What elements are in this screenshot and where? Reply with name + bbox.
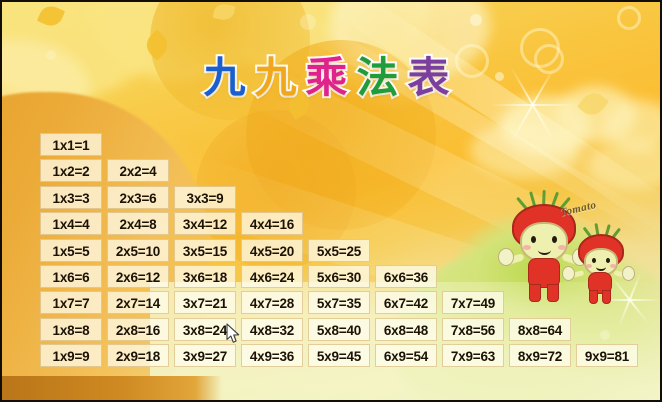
table-cell: 7x7=49	[442, 291, 504, 314]
bokeh-circle	[300, 14, 316, 30]
table-cell: 2x3=6	[107, 186, 169, 209]
cheek-blush	[558, 245, 566, 250]
hand	[562, 266, 575, 281]
page-title: 九九乘法表	[0, 44, 662, 105]
table-cell: 4x4=16	[241, 212, 303, 235]
leg	[602, 290, 611, 304]
table-cell: 4x6=24	[241, 265, 303, 288]
table-cell: 4x7=28	[241, 291, 303, 314]
table-cell: 3x6=18	[174, 265, 236, 288]
table-cell: 8x9=72	[509, 344, 571, 367]
table-cell: 6x9=54	[375, 344, 437, 367]
bokeh-circle	[470, 14, 482, 26]
bokeh-circle	[600, 330, 610, 340]
table-cell: 4x9=36	[241, 344, 303, 367]
table-cell: 3x8=24	[174, 318, 236, 341]
cheek-blush	[586, 264, 592, 268]
title-char-1: 九	[203, 44, 254, 105]
table-cell: 5x6=30	[308, 265, 370, 288]
leg	[547, 284, 559, 302]
title-char-5: 表	[408, 44, 459, 105]
table-cell: 2x7=14	[107, 291, 169, 314]
hand	[498, 248, 514, 266]
bottom-left-bar	[0, 376, 222, 402]
table-cell: 3x5=15	[174, 239, 236, 262]
table-cell: 6x6=36	[375, 265, 437, 288]
table-cell: 5x8=40	[308, 318, 370, 341]
eye	[531, 236, 536, 243]
table-cell: 9x9=81	[576, 344, 638, 367]
table-cell: 1x7=7	[40, 291, 102, 314]
table-cell: 3x4=12	[174, 212, 236, 235]
table-cell: 5x5=25	[308, 239, 370, 262]
bokeh-circle	[617, 6, 641, 30]
table-cell: 1x5=5	[40, 239, 102, 262]
cheek-blush	[610, 264, 616, 268]
table-cell: 7x8=56	[442, 318, 504, 341]
table-cell: 1x4=4	[40, 212, 102, 235]
cheek-blush	[523, 245, 531, 250]
table-cell: 1x3=3	[40, 186, 102, 209]
eye	[552, 236, 557, 243]
title-char-3: 乘	[305, 44, 356, 105]
table-cell: 5x9=45	[308, 344, 370, 367]
title-char-4: 法	[357, 44, 408, 105]
table-cell: 3x7=21	[174, 291, 236, 314]
tomato-mascot-small	[566, 230, 632, 306]
title-char-2: 九	[254, 44, 305, 105]
table-cell: 2x5=10	[107, 239, 169, 262]
table-cell: 7x9=63	[442, 344, 504, 367]
mouth	[538, 245, 551, 255]
table-cell: 2x2=4	[107, 159, 169, 182]
eye	[606, 258, 610, 263]
table-cell: 1x1=1	[40, 133, 102, 156]
table-cell: 2x8=16	[107, 318, 169, 341]
leg	[529, 284, 541, 302]
hand	[622, 266, 635, 281]
table-cell: 1x6=6	[40, 265, 102, 288]
table-cell: 2x9=18	[107, 344, 169, 367]
mouth	[596, 263, 606, 271]
table-cell: 6x8=48	[375, 318, 437, 341]
table-cell: 2x6=12	[107, 265, 169, 288]
table-cell: 3x3=9	[174, 186, 236, 209]
mascot-face	[520, 222, 568, 262]
table-cell: 8x8=64	[509, 318, 571, 341]
table-cell: 3x9=27	[174, 344, 236, 367]
table-cell: 4x8=32	[241, 318, 303, 341]
table-cell: 5x7=35	[308, 291, 370, 314]
table-cell: 6x7=42	[375, 291, 437, 314]
table-cell: 1x2=2	[40, 159, 102, 182]
table-cell: 4x5=20	[241, 239, 303, 262]
slide-canvas: 九九乘法表 1x1=11x2=22x2=41x3=32x3=63x3=91x4=…	[0, 0, 662, 402]
table-cell: 2x4=8	[107, 212, 169, 235]
leg	[589, 290, 598, 304]
table-cell: 1x8=8	[40, 318, 102, 341]
table-cell: 1x9=9	[40, 344, 102, 367]
